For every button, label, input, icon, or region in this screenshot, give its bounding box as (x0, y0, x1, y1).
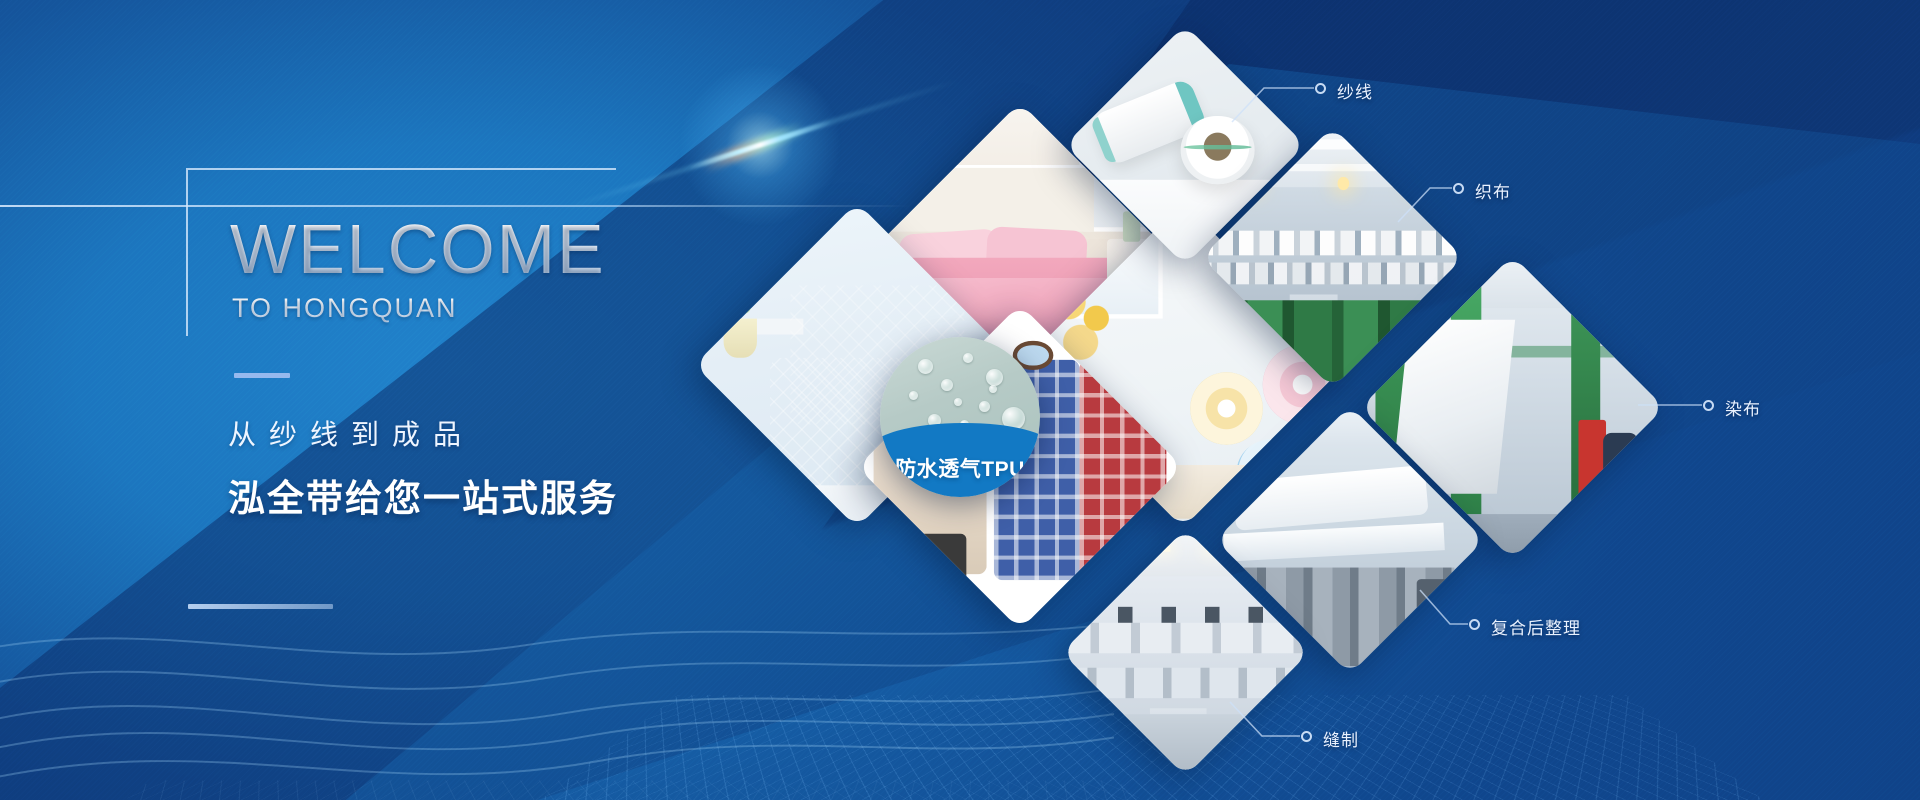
badge-label: 防水透气TPU (880, 453, 1040, 483)
tagline-chinese: 从纱线到成品 (228, 413, 474, 453)
center-badge: 防水透气TPU (880, 337, 1040, 497)
long-rule-divider (188, 604, 333, 609)
welcome-headline: WELCOME (230, 216, 606, 283)
headline-chinese: 泓全带给您一站式服务 (228, 468, 618, 522)
brand-subhead: TO HONGQUAN (232, 293, 458, 324)
hero-banner: WELCOME TO HONGQUAN 从纱线到成品 泓全带给您一站式服务 (0, 0, 1920, 800)
short-rule-divider (234, 373, 290, 378)
